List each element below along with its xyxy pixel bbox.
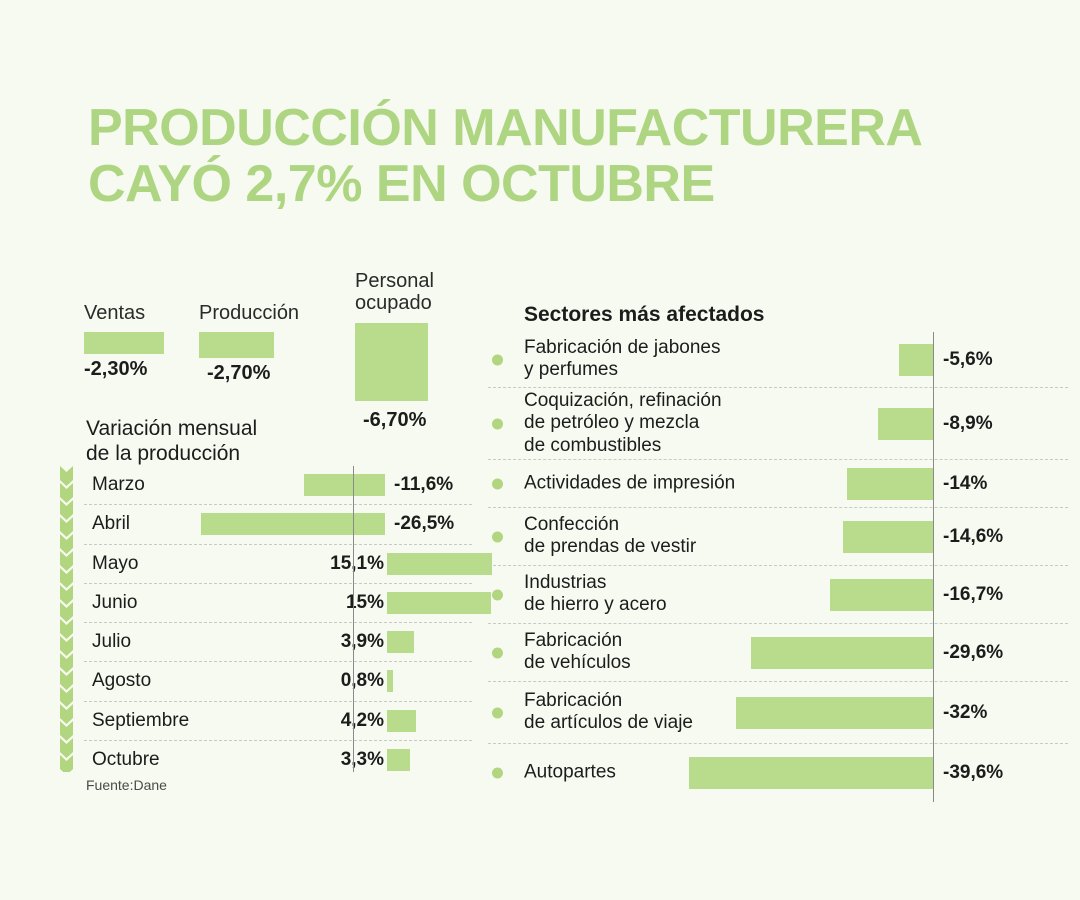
monthly-row: Octubre3,3%	[84, 741, 472, 779]
sector-row-value: -29,6%	[943, 642, 1003, 664]
monthly-row-label: Septiembre	[92, 710, 189, 732]
bullet-icon	[492, 707, 503, 718]
sector-row-bar	[847, 468, 933, 500]
monthly-row: Mayo15,1%	[84, 545, 472, 584]
sectors-chart: Fabricación de jabones y perfumes-5,6%Co…	[488, 332, 1068, 802]
monthly-row-bar	[387, 631, 414, 653]
sector-row: Coquización, refinación de petróleo y me…	[488, 388, 1068, 460]
sector-row: Actividades de impresión-14%	[488, 460, 1068, 508]
monthly-rows: Marzo-11,6%Abril-26,5%Mayo15,1%Junio15%J…	[84, 466, 472, 772]
sector-row: Autopartes-39,6%	[488, 744, 1068, 802]
monthly-row-bar	[304, 474, 385, 496]
monthly-row-label: Marzo	[92, 474, 145, 496]
kpi-personal-ocupado-label: Personal ocupado	[355, 270, 434, 315]
monthly-row-bar	[387, 710, 416, 732]
monthly-row-label: Julio	[92, 631, 131, 653]
sector-row-label: Fabricación de vehículos	[524, 630, 631, 676]
monthly-row: Marzo-11,6%	[84, 466, 472, 505]
kpi-personal-ocupado-value: -6,70%	[363, 409, 434, 432]
monthly-row-bar	[387, 553, 492, 575]
monthly-row-value: 3,3%	[279, 749, 384, 771]
kpi-produccion-label: Producción	[199, 302, 299, 324]
monthly-row: Septiembre4,2%	[84, 702, 472, 741]
title-line-1: PRODUCCIÓN MANUFACTURERA	[88, 100, 1008, 156]
monthly-row: Junio15%	[84, 584, 472, 623]
sector-row: Confección de prendas de vestir-14,6%	[488, 508, 1068, 566]
monthly-row-label: Mayo	[92, 553, 138, 575]
monthly-row-bar	[387, 749, 410, 771]
bullet-icon	[492, 647, 503, 658]
chevron-ribbon-icon	[60, 466, 73, 772]
sector-row-value: -14,6%	[943, 526, 1003, 548]
sector-row-label: Autopartes	[524, 762, 616, 785]
bullet-icon	[492, 354, 503, 365]
sector-row-bar	[736, 697, 933, 729]
sector-row-label: Confección de prendas de vestir	[524, 514, 696, 560]
page-title: PRODUCCIÓN MANUFACTURERA CAYÓ 2,7% EN OC…	[88, 100, 1008, 212]
kpi-personal-ocupado: Personal ocupado -6,70%	[355, 270, 434, 432]
bullet-icon	[492, 768, 503, 779]
sector-row-bar	[830, 579, 933, 611]
kpi-personal-ocupado-bar	[355, 323, 428, 401]
monthly-row-value: 15%	[279, 592, 384, 614]
monthly-row: Julio3,9%	[84, 623, 472, 662]
bullet-icon	[492, 589, 503, 600]
sector-row: Fabricación de artículos de viaje-32%	[488, 682, 1068, 744]
sector-row: Fabricación de jabones y perfumes-5,6%	[488, 332, 1068, 388]
monthly-row-value: -26,5%	[394, 513, 454, 535]
monthly-row-value: -11,6%	[394, 474, 453, 496]
monthly-row-value: 4,2%	[279, 710, 384, 732]
kpi-ventas-value: -2,30%	[84, 358, 164, 381]
monthly-row-label: Abril	[92, 513, 130, 535]
kpi-ventas-label: Ventas	[84, 302, 164, 324]
kpi-produccion-value: -2,70%	[207, 362, 299, 385]
sector-row: Industrias de hierro y acero-16,7%	[488, 566, 1068, 624]
sector-row-label: Fabricación de artículos de viaje	[524, 690, 693, 736]
sector-row-label: Coquización, refinación de petróleo y me…	[524, 389, 722, 457]
sectors-rows: Fabricación de jabones y perfumes-5,6%Co…	[488, 332, 1068, 802]
kpi-ventas-bar	[84, 332, 164, 354]
sector-row-value: -8,9%	[943, 413, 993, 435]
bullet-icon	[492, 418, 503, 429]
monthly-row-label: Agosto	[92, 670, 151, 692]
sector-row-bar	[689, 757, 933, 789]
title-line-2: CAYÓ 2,7% EN OCTUBRE	[88, 156, 1008, 212]
bullet-icon	[492, 478, 503, 489]
sector-row-label: Fabricación de jabones y perfumes	[524, 337, 720, 383]
sector-row-bar	[843, 521, 933, 553]
sector-row-value: -14%	[943, 473, 987, 495]
sectors-zero-axis	[933, 332, 934, 802]
sector-row-label: Industrias de hierro y acero	[524, 572, 667, 618]
monthly-row-label: Junio	[92, 592, 137, 614]
kpi-ventas: Ventas -2,30%	[84, 302, 164, 381]
monthly-section-heading: Variación mensual de la producción	[86, 417, 257, 467]
monthly-variation-chart: Marzo-11,6%Abril-26,5%Mayo15,1%Junio15%J…	[52, 466, 472, 772]
monthly-zero-axis	[353, 466, 354, 772]
sector-row-value: -5,6%	[943, 349, 993, 371]
sector-row-bar	[899, 344, 933, 376]
monthly-row-value: 0,8%	[279, 670, 384, 692]
bullet-icon	[492, 531, 503, 542]
monthly-row-value: 3,9%	[279, 631, 384, 653]
monthly-row-value: 15,1%	[279, 553, 384, 575]
monthly-row: Abril-26,5%	[84, 505, 472, 544]
sector-row-value: -32%	[943, 702, 987, 724]
sector-row: Fabricación de vehículos-29,6%	[488, 624, 1068, 682]
monthly-row: Agosto0,8%	[84, 662, 472, 701]
monthly-row-bar	[387, 670, 393, 692]
sector-row-value: -16,7%	[943, 584, 1003, 606]
sector-row-value: -39,6%	[943, 762, 1003, 784]
sector-row-label: Actividades de impresión	[524, 472, 735, 495]
monthly-row-bar	[201, 513, 385, 535]
kpi-produccion-bar	[199, 332, 274, 358]
monthly-row-label: Octubre	[92, 749, 160, 771]
sector-row-bar	[878, 408, 933, 440]
source-caption: Fuente:Dane	[86, 777, 167, 793]
sector-row-bar	[751, 637, 933, 669]
kpi-produccion: Producción -2,70%	[199, 302, 299, 385]
monthly-row-bar	[387, 592, 491, 614]
sectors-section-heading: Sectores más afectados	[524, 303, 764, 327]
